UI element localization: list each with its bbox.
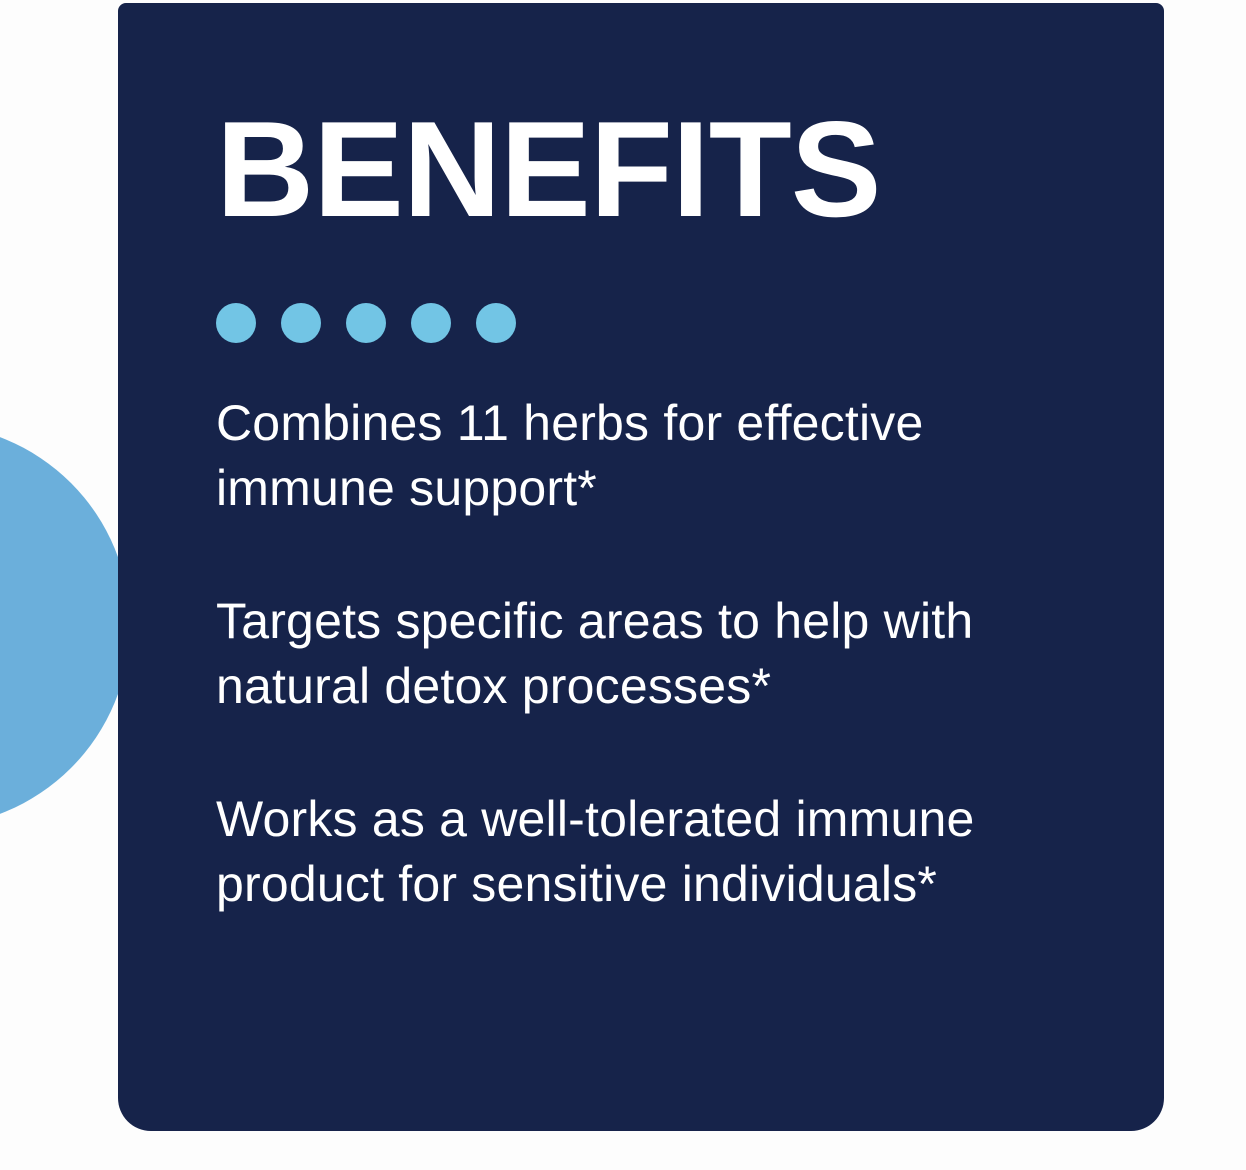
divider-dot-4: [411, 303, 451, 343]
list-item: Combines 11 herbs for effective immune s…: [216, 391, 1096, 521]
dot-divider: [216, 303, 516, 343]
benefits-card: BENEFITS Combines 11 herbs for effective…: [118, 3, 1164, 1131]
divider-dot-5: [476, 303, 516, 343]
list-item: Works as a well-tolerated immune product…: [216, 787, 1096, 917]
divider-dot-2: [281, 303, 321, 343]
accent-circle-decoration: [0, 424, 130, 827]
list-item: Targets specific areas to help with natu…: [216, 589, 1096, 719]
benefit-list: Combines 11 herbs for effective immune s…: [216, 391, 1096, 917]
benefits-card-content: BENEFITS Combines 11 herbs for effective…: [216, 3, 1164, 1131]
page-root: BENEFITS Combines 11 herbs for effective…: [0, 0, 1246, 1170]
divider-dot-1: [216, 303, 256, 343]
divider-dot-3: [346, 303, 386, 343]
page-title: BENEFITS: [216, 101, 881, 237]
